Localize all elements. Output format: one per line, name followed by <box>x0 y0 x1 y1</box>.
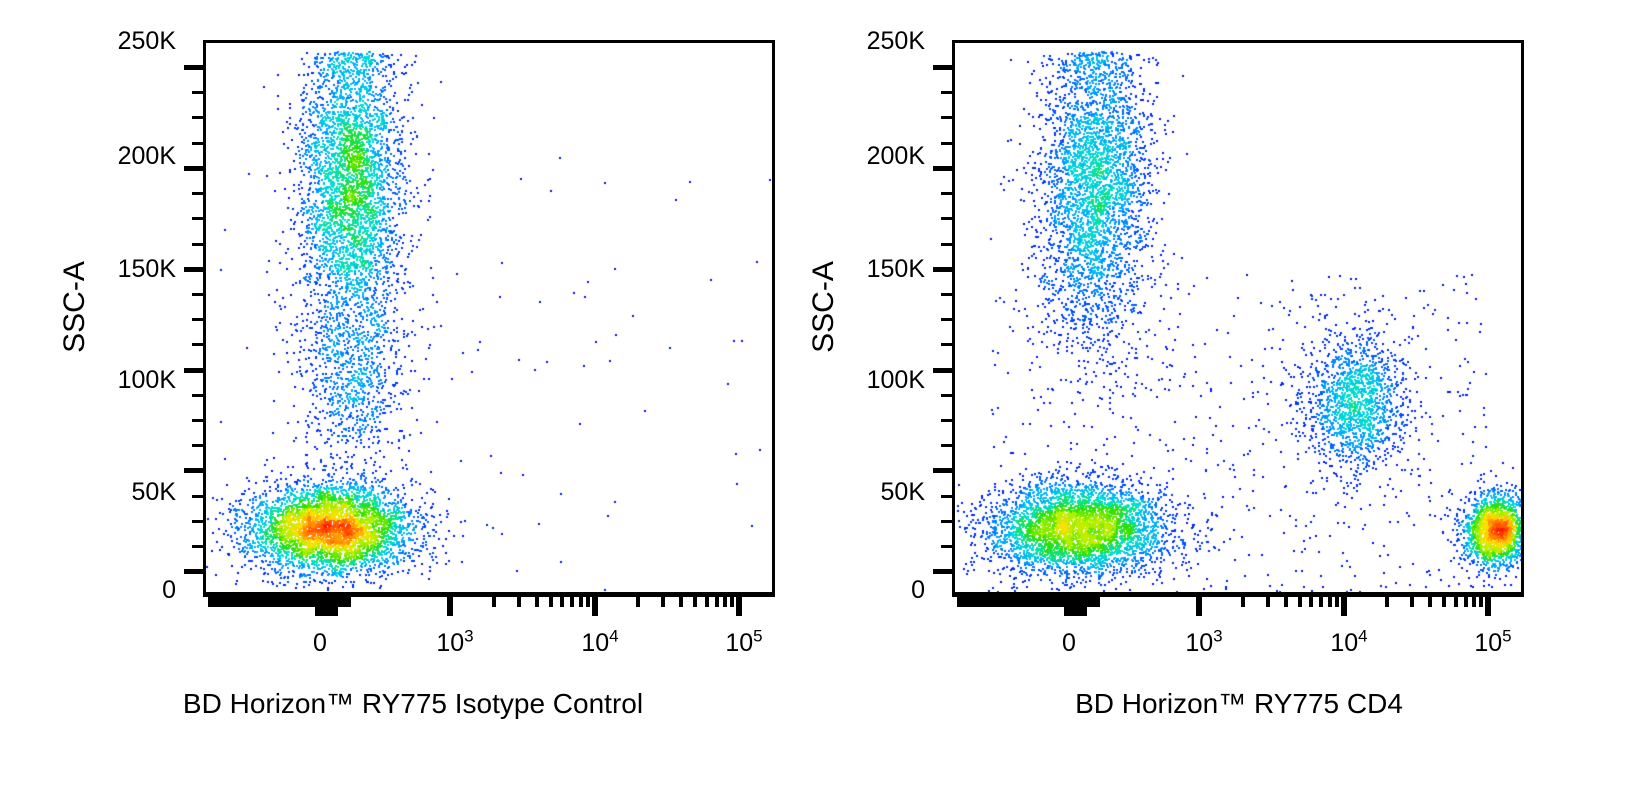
x-minor-tick <box>998 594 1002 607</box>
x-minor-tick <box>969 594 973 607</box>
x-tick-label-1e3: 103 <box>425 629 485 658</box>
y-minor-tick <box>192 243 203 246</box>
y-minor-tick <box>192 545 203 548</box>
x-minor-tick <box>1442 594 1446 607</box>
x-minor-tick <box>228 594 232 607</box>
y-tick-label-0: 0 <box>889 576 925 605</box>
x-minor-tick <box>517 594 521 607</box>
x-major-tick <box>736 594 742 616</box>
x-minor-tick <box>570 594 574 607</box>
x-minor-tick <box>287 594 291 607</box>
x-minor-tick <box>214 594 218 607</box>
x-zero-tick-band-core <box>315 594 338 616</box>
y-minor-tick <box>941 217 952 220</box>
x-minor-tick <box>992 594 996 607</box>
y-minor-tick <box>941 444 952 447</box>
x-minor-tick <box>1472 594 1476 607</box>
y-minor-tick <box>192 217 203 220</box>
x-minor-tick <box>276 594 280 607</box>
y-tick-label-200k: 200K <box>96 142 176 171</box>
x-minor-tick <box>252 594 256 607</box>
x-minor-tick <box>220 594 224 607</box>
x-minor-tick <box>1031 594 1035 607</box>
x-minor-tick <box>273 594 277 607</box>
x-minor-tick <box>1010 594 1014 607</box>
y-major-tick <box>933 569 952 574</box>
panel-caption-isotype: BD Horizon™ RY775 Isotype Control <box>0 688 826 720</box>
y-minor-tick <box>192 91 203 94</box>
y-tick-label-150k: 150K <box>845 255 925 284</box>
x-minor-tick <box>1022 594 1026 607</box>
x-minor-tick <box>492 594 496 607</box>
dot-plot-figure: SSC-A 250K 200K 150K 100K 50K 0 0 103 10… <box>0 0 1652 797</box>
x-minor-tick <box>279 594 283 607</box>
x-minor-tick <box>586 594 590 607</box>
x-minor-tick <box>208 594 212 607</box>
x-minor-tick <box>1298 594 1302 607</box>
plot-area-cd4[interactable] <box>952 40 1524 595</box>
x-major-tick <box>447 594 453 616</box>
x-tick-label-0: 0 <box>1049 629 1089 658</box>
y-minor-tick <box>941 394 952 397</box>
x-minor-tick <box>535 594 539 607</box>
x-major-tick <box>592 594 598 616</box>
y-tick-label-100k: 100K <box>96 366 176 395</box>
x-minor-tick <box>296 594 300 607</box>
x-minor-tick <box>270 594 274 607</box>
x-minor-tick <box>1013 594 1017 607</box>
y-major-tick <box>933 368 952 373</box>
y-minor-tick <box>192 318 203 321</box>
x-minor-tick <box>246 594 250 607</box>
y-minor-tick <box>192 394 203 397</box>
x-minor-tick <box>983 594 987 607</box>
y-major-tick <box>184 468 203 473</box>
x-tick-label-1e5: 105 <box>714 629 774 658</box>
x-minor-tick <box>1454 594 1458 607</box>
y-minor-tick <box>192 343 203 346</box>
x-minor-tick <box>679 594 683 607</box>
x-minor-tick <box>1385 594 1389 607</box>
x-minor-tick <box>661 594 665 607</box>
x-minor-tick <box>1328 594 1332 607</box>
y-minor-tick <box>192 142 203 145</box>
panel-cd4: SSC-A 250K 200K 150K 100K 50K 0 0 103 10… <box>826 0 1652 797</box>
x-minor-tick <box>1410 594 1414 607</box>
x-minor-tick <box>705 594 709 607</box>
x-minor-tick <box>730 594 734 607</box>
x-minor-tick <box>975 594 979 607</box>
y-major-tick <box>184 65 203 70</box>
y-minor-tick <box>941 116 952 119</box>
x-major-tick <box>1341 594 1347 616</box>
x-minor-tick <box>226 594 230 607</box>
y-axis-title: SSC-A <box>807 227 841 387</box>
y-minor-tick <box>941 293 952 296</box>
y-minor-tick <box>192 495 203 498</box>
x-minor-tick <box>693 594 697 607</box>
x-major-tick <box>1485 594 1491 616</box>
y-minor-tick <box>192 116 203 119</box>
x-minor-tick <box>234 594 238 607</box>
x-minor-tick <box>980 594 984 607</box>
x-minor-tick <box>1001 594 1005 607</box>
plot-area-isotype[interactable] <box>203 40 775 595</box>
y-minor-tick <box>941 520 952 523</box>
y-minor-tick <box>941 91 952 94</box>
x-minor-tick <box>715 594 719 607</box>
x-tick-label-1e4: 104 <box>570 629 630 658</box>
y-tick-label-0: 0 <box>140 576 176 605</box>
x-minor-tick <box>1042 594 1046 607</box>
x-minor-tick <box>267 594 271 607</box>
x-tick-label-1e4: 104 <box>1319 629 1379 658</box>
y-minor-tick <box>941 192 952 195</box>
x-minor-tick <box>243 594 247 607</box>
y-minor-tick <box>941 343 952 346</box>
x-minor-tick <box>960 594 964 607</box>
y-tick-label-100k: 100K <box>845 366 925 395</box>
x-minor-tick <box>723 594 727 607</box>
x-minor-tick <box>1004 594 1008 607</box>
y-major-tick <box>184 267 203 272</box>
x-minor-tick <box>1019 594 1023 607</box>
y-minor-tick <box>941 243 952 246</box>
y-minor-tick <box>192 293 203 296</box>
x-minor-tick <box>1045 594 1049 607</box>
x-minor-tick <box>1266 594 1270 607</box>
x-minor-tick <box>1007 594 1011 607</box>
x-minor-tick <box>1241 594 1245 607</box>
y-tick-label-50k: 50K <box>111 478 176 507</box>
x-zero-tick-band-core <box>1064 594 1087 616</box>
y-tick-label-150k: 150K <box>96 255 176 284</box>
x-minor-tick <box>264 594 268 607</box>
y-major-tick <box>933 65 952 70</box>
x-minor-tick <box>240 594 244 607</box>
x-minor-tick <box>1036 594 1040 607</box>
y-minor-tick <box>192 520 203 523</box>
y-tick-label-200k: 200K <box>845 142 925 171</box>
y-major-tick <box>933 166 952 171</box>
x-minor-tick <box>963 594 967 607</box>
x-minor-tick <box>231 594 235 607</box>
y-minor-tick <box>941 545 952 548</box>
x-tick-label-1e5: 105 <box>1463 629 1523 658</box>
x-minor-tick <box>1464 594 1468 607</box>
x-minor-tick <box>986 594 990 607</box>
y-major-tick <box>933 267 952 272</box>
x-major-tick <box>1196 594 1202 616</box>
y-minor-tick <box>941 318 952 321</box>
x-minor-tick <box>258 594 262 607</box>
panel-caption-cd4: BD Horizon™ RY775 CD4 <box>826 688 1652 720</box>
y-tick-label-250k: 250K <box>96 27 176 56</box>
x-minor-tick <box>1028 594 1032 607</box>
x-minor-tick <box>1025 594 1029 607</box>
x-minor-tick <box>1033 594 1037 607</box>
x-minor-tick <box>237 594 241 607</box>
x-minor-tick <box>560 594 564 607</box>
x-minor-tick <box>249 594 253 607</box>
y-minor-tick <box>192 444 203 447</box>
x-minor-tick <box>966 594 970 607</box>
scatter-canvas-isotype <box>206 43 772 592</box>
scatter-canvas-cd4 <box>955 43 1521 592</box>
x-minor-tick <box>1335 594 1339 607</box>
y-minor-tick <box>192 192 203 195</box>
x-minor-tick <box>1479 594 1483 607</box>
x-minor-tick <box>995 594 999 607</box>
x-minor-tick <box>217 594 221 607</box>
x-minor-tick <box>972 594 976 607</box>
y-minor-tick <box>192 419 203 422</box>
y-axis-title: SSC-A <box>58 227 92 387</box>
x-minor-tick <box>290 594 294 607</box>
x-minor-tick <box>211 594 215 607</box>
x-minor-tick <box>299 594 303 607</box>
y-minor-tick <box>941 495 952 498</box>
y-major-tick <box>184 368 203 373</box>
y-tick-label-250k: 250K <box>845 27 925 56</box>
x-minor-tick <box>989 594 993 607</box>
y-major-tick <box>933 468 952 473</box>
x-minor-tick <box>957 594 961 607</box>
x-minor-tick <box>1428 594 1432 607</box>
x-tick-label-0: 0 <box>300 629 340 658</box>
x-zero-tick-band <box>1050 594 1099 607</box>
y-minor-tick <box>941 142 952 145</box>
x-minor-tick <box>1048 594 1052 607</box>
x-minor-tick <box>1016 594 1020 607</box>
x-minor-tick <box>284 594 288 607</box>
x-minor-tick <box>579 594 583 607</box>
x-minor-tick <box>293 594 297 607</box>
x-minor-tick <box>636 594 640 607</box>
x-minor-tick <box>1319 594 1323 607</box>
y-major-tick <box>184 569 203 574</box>
x-tick-label-1e3: 103 <box>1174 629 1234 658</box>
y-major-tick <box>184 166 203 171</box>
x-minor-tick <box>549 594 553 607</box>
x-minor-tick <box>261 594 265 607</box>
x-minor-tick <box>255 594 259 607</box>
x-zero-tick-band <box>301 594 350 607</box>
x-minor-tick <box>1284 594 1288 607</box>
x-minor-tick <box>282 594 286 607</box>
x-minor-tick <box>977 594 981 607</box>
y-minor-tick <box>941 419 952 422</box>
x-minor-tick <box>223 594 227 607</box>
x-minor-tick <box>1309 594 1313 607</box>
panel-isotype-control: SSC-A 250K 200K 150K 100K 50K 0 0 103 10… <box>0 0 826 797</box>
x-minor-tick <box>1039 594 1043 607</box>
y-tick-label-50k: 50K <box>860 478 925 507</box>
